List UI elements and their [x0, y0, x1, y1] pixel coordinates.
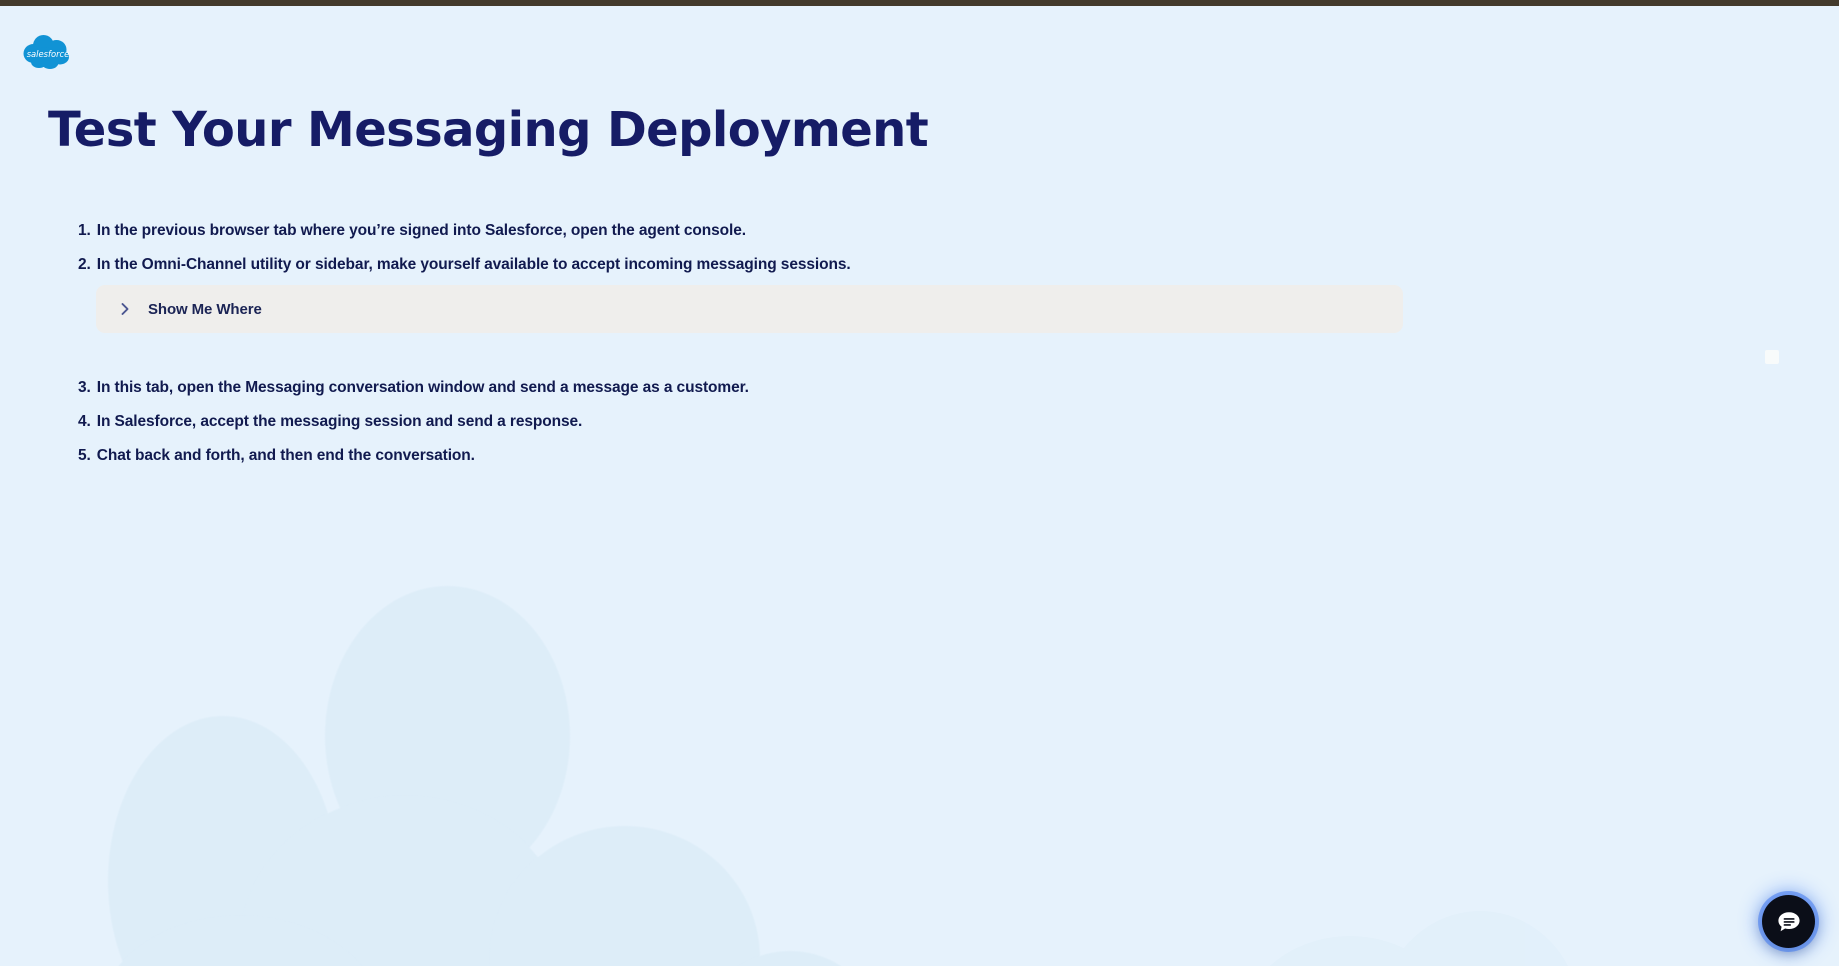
- cloud-puff: [325, 586, 570, 886]
- chat-bubble-icon: [1776, 909, 1802, 935]
- list-item: 3. In this tab, open the Messaging conve…: [78, 378, 749, 399]
- cloud-puff: [1380, 911, 1580, 966]
- chevron-right-icon: [118, 302, 132, 316]
- svg-text:salesforce: salesforce: [27, 49, 70, 59]
- list-item: 1. In the previous browser tab where you…: [78, 221, 746, 242]
- list-item: 2. In the Omni-Channel utility or sideba…: [78, 255, 851, 276]
- page-title: Test Your Messaging Deployment: [48, 102, 928, 158]
- list-item-number: 3.: [78, 378, 91, 399]
- cloud-puff: [240, 796, 570, 966]
- cloud-puff: [490, 826, 760, 966]
- list-item-number: 4.: [78, 412, 91, 433]
- chat-launcher-button[interactable]: [1762, 895, 1815, 948]
- list-item: 4. In Salesforce, accept the messaging s…: [78, 412, 582, 433]
- accordion-label: Show Me Where: [148, 301, 262, 318]
- cloud-watermark-right: [1180, 816, 1740, 966]
- list-item-text: In the previous browser tab where you’re…: [97, 221, 746, 242]
- salesforce-cloud-logo: salesforce: [22, 32, 76, 76]
- list-item: 5. Chat back and forth, and then end the…: [78, 446, 475, 467]
- list-item-text: In Salesforce, accept the messaging sess…: [97, 412, 582, 433]
- page-canvas: salesforce Test Your Messaging Deploymen…: [0, 6, 1839, 966]
- cloud-puff: [1240, 936, 1460, 966]
- browser-chrome-strip: [0, 0, 1839, 6]
- cloud-watermark-left: [60, 526, 1060, 966]
- list-item-number: 2.: [78, 255, 91, 276]
- show-me-where-accordion[interactable]: Show Me Where: [96, 285, 1403, 333]
- cloud-puff: [700, 951, 880, 966]
- list-item-text: In the Omni-Channel utility or sidebar, …: [97, 255, 851, 276]
- list-item-text: In this tab, open the Messaging conversa…: [97, 378, 749, 399]
- list-item-text: Chat back and forth, and then end the co…: [97, 446, 475, 467]
- list-item-number: 5.: [78, 446, 91, 467]
- cloud-puff: [108, 716, 338, 966]
- cloud-puff: [95, 916, 385, 966]
- list-item-number: 1.: [78, 221, 91, 242]
- render-artifact: [1765, 350, 1779, 364]
